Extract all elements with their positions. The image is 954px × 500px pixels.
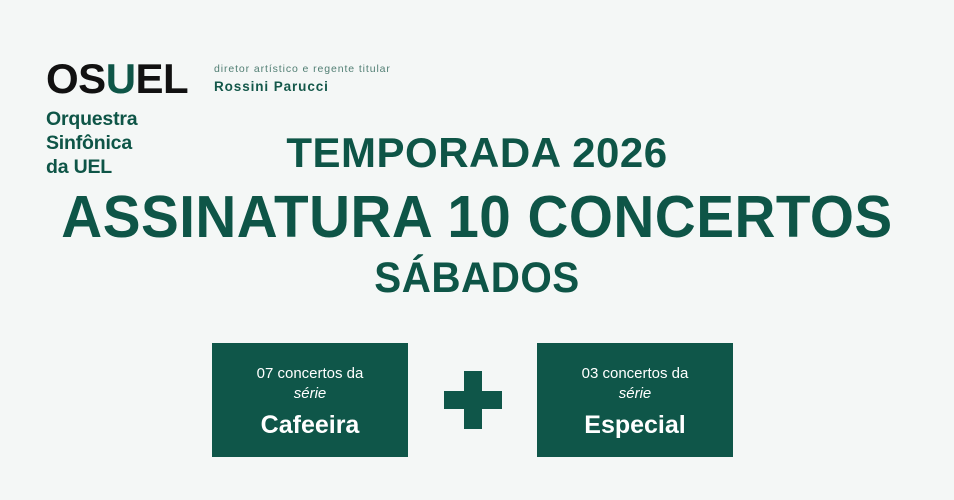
series-card-especial: 03 concertos da série Especial xyxy=(537,343,733,457)
conductor-role-label: diretor artístico e regente titular xyxy=(214,62,391,76)
plus-icon-vertical-bar xyxy=(464,371,482,429)
logo-wordmark-os: OS xyxy=(46,55,106,102)
series-count-text: 03 concertos da xyxy=(582,364,689,384)
poster-canvas: OSUEL Orquestra Sinfônica da UEL diretor… xyxy=(0,0,954,500)
headline-stack: TEMPORADA 2026 ASSINATURA 10 CONCERTOS S… xyxy=(0,128,954,304)
logo-wordmark: OSUEL xyxy=(46,58,216,100)
season-title: TEMPORADA 2026 xyxy=(0,128,954,178)
series-name-label: Cafeeira xyxy=(261,410,360,440)
day-of-week-title: SÁBADOS xyxy=(29,252,926,304)
series-count-text: 07 concertos da xyxy=(257,364,364,384)
series-card-cafeeira: 07 concertos da série Cafeeira xyxy=(212,343,408,457)
series-row: 07 concertos da série Cafeeira 03 concer… xyxy=(212,343,733,457)
series-word-label: série xyxy=(294,384,327,404)
logo-wordmark-el: EL xyxy=(136,55,189,102)
subscription-title: ASSINATURA 10 CONCERTOS xyxy=(19,184,935,250)
conductor-name: Rossini Parucci xyxy=(214,78,391,95)
plus-icon xyxy=(444,371,502,429)
logo-wordmark-u: U xyxy=(106,55,136,102)
series-word-label: série xyxy=(619,384,652,404)
conductor-credit: diretor artístico e regente titular Ross… xyxy=(214,62,391,95)
series-name-label: Especial xyxy=(584,410,685,440)
